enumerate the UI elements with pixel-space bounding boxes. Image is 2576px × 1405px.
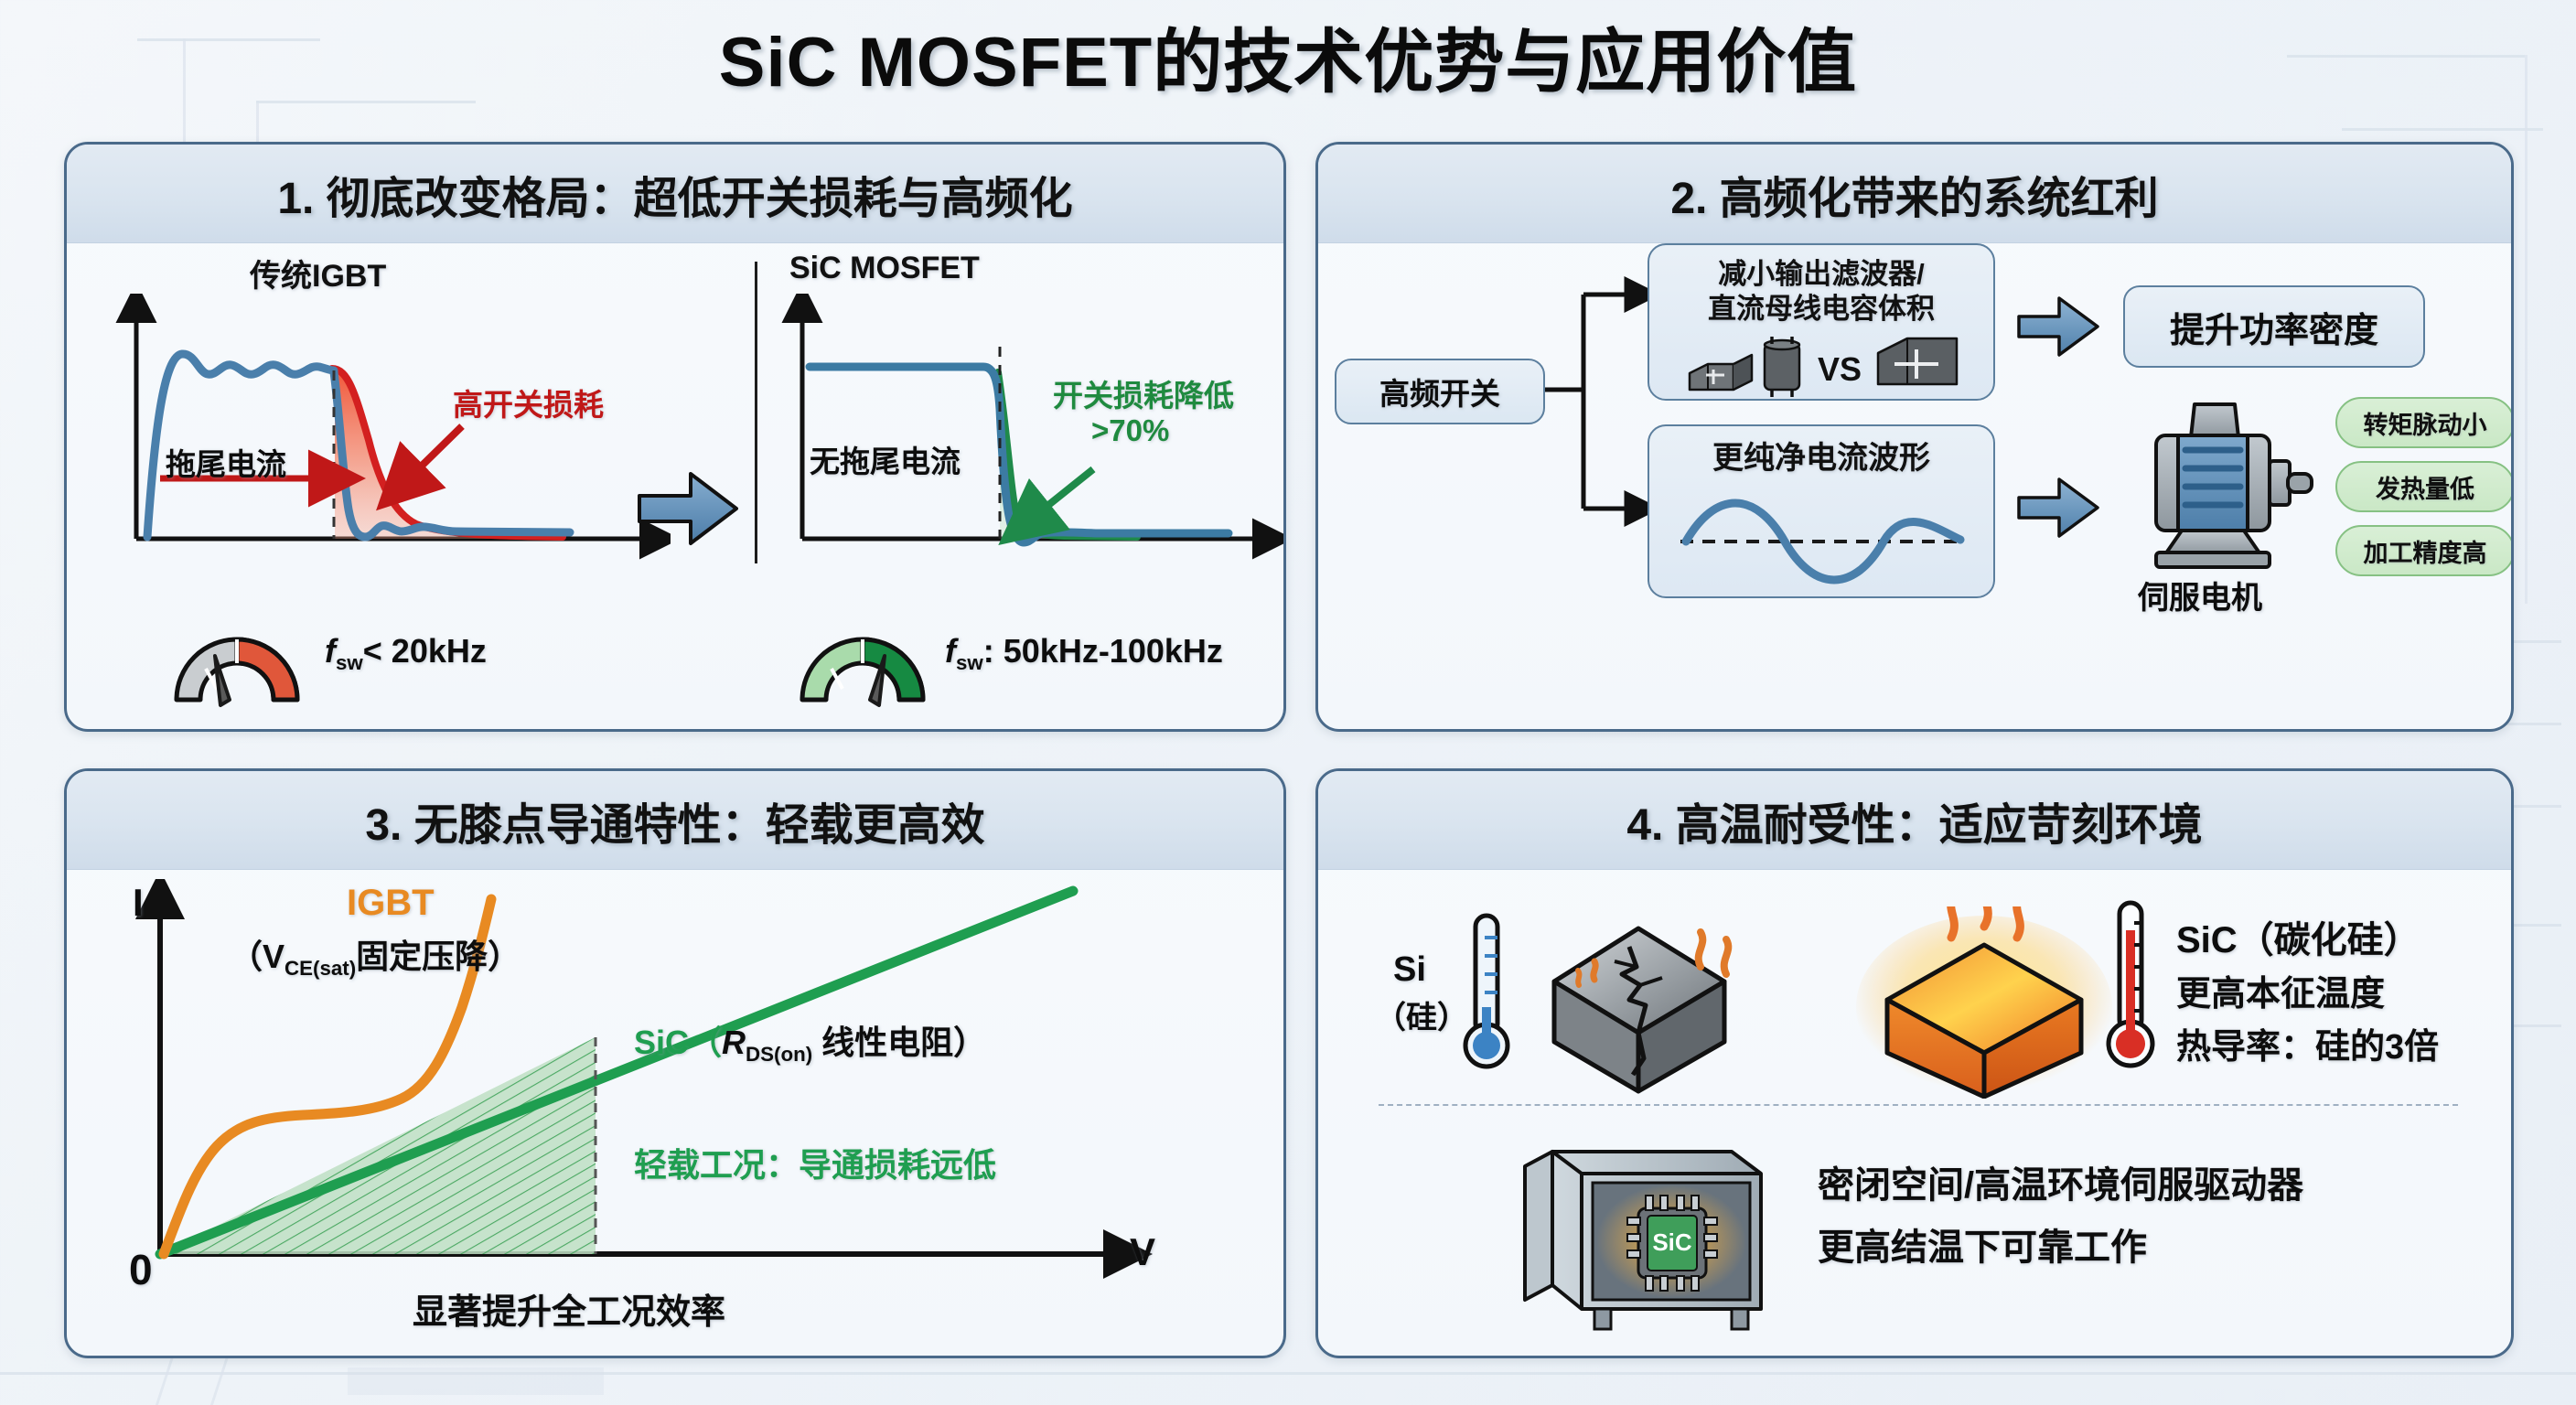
sic-frequency-gauge-icon [789,605,936,710]
sic-chart-label: SiC MOSFET [789,251,980,286]
vce-pre: （V [230,938,284,975]
benefit-pill-low-heat: 发热量低 [2335,461,2514,512]
sine-waveform-icon [1675,494,1971,589]
improve-power-density-box[interactable]: 提升功率密度 [2123,285,2425,368]
panel3-caption: 显著提升全工况效率 [413,1283,725,1334]
cleaner-current-waveform-box: 更纯净电流波形 [1648,424,1995,598]
iv-x-axis-label: V [1130,1230,1155,1274]
panel1-title: 1. 彻底改变格局：超低开关损耗与高频化 [277,162,1072,226]
cracked-silicon-cube-icon [1538,921,1748,1095]
sic-waveform-chart [771,294,1283,568]
servo-motor-icon [2116,399,2317,573]
rdson-symbol: R [722,1024,746,1061]
servo-motor-arrow-icon [2015,472,2103,543]
svg-text:VS: VS [1818,350,1862,388]
panel-high-temperature: 4. 高温耐受性：适应苛刻环境 Si （硅） [1315,768,2514,1358]
sic-thermal-conductivity-text: 热导率：硅的3倍 [2176,1018,2439,1068]
chip-sic-text: SiC [1652,1228,1692,1256]
rdson-subscript: DS(on) [746,1043,812,1066]
panel4-header: 4. 高温耐受性：适应苛刻环境 [1318,771,2511,870]
filter-box-title-line1: 减小输出滤波器/ [1649,258,1993,291]
sic-intrinsic-temp-text: 更高本征温度 [2176,965,2385,1015]
power-density-arrow-icon [2015,291,2103,362]
sic-frequency-value: : 50kHz-100kHz [983,632,1223,670]
panel1-body: 传统IGBT SiC MOSFET [67,243,1283,729]
panel1-header: 1. 彻底改变格局：超低开关损耗与高频化 [67,145,1283,243]
fsw-subscript-sic: sw [956,651,983,674]
panel-switching-loss: 1. 彻底改变格局：超低开关损耗与高频化 传统IGBT SiC MOSFET [64,142,1286,732]
tail-current-note: 拖尾电流 [166,440,286,484]
vce-post: 固定压降） [356,938,521,975]
filter-box-title-line2: 直流母线电容体积 [1649,293,1993,326]
fsw-subscript-igbt: sw [336,651,363,674]
panel3-body: I V 0 IGBT （VCE(sat)固定压降） SiC（RDS(on) 线性… [67,870,1283,1356]
sic-thermometer-icon [2101,899,2160,1073]
sic-label-post: 线性电阻） [812,1024,986,1061]
panel1-divider [755,262,757,563]
panel-conduction-characteristics: 3. 无膝点导通特性：轻载更高效 [64,768,1286,1358]
panel2-title: 2. 高频化带来的系统红利 [1670,162,2158,226]
enclosure-application-line2: 更高结温下可靠工作 [1818,1217,2147,1271]
switching-loss-reduction-note: 开关损耗降低 [1053,371,1234,415]
iv-y-axis-label: I [133,881,144,925]
hot-sic-cube-icon [1856,906,2112,1099]
high-switching-loss-note: 高开关损耗 [453,381,604,424]
benefit-pill-torque-ripple: 转矩脉动小 [2335,397,2514,448]
panel3-header: 3. 无膝点导通特性：轻载更高效 [67,771,1283,870]
sic-curve-label: SiC（RDS(on) 线性电阻） [634,1016,986,1067]
igbt-frequency-text: fsw< 20kHz [325,632,487,675]
enclosure-application-line1: 密闭空间/高温环境伺服驱动器 [1818,1155,2303,1208]
page-title: SiC MOSFET的技术优势与应用价值 [0,5,2576,106]
igbt-chart-label: 传统IGBT [250,251,386,295]
si-label-line1: Si [1393,950,1426,990]
panel4-title: 4. 高温耐受性：适应苛刻环境 [1626,788,2202,853]
capacitor-comparison-icon: VS [1682,333,1966,399]
panel4-body: Si （硅） [1318,870,2511,1356]
si-label-line2: （硅） [1375,992,1468,1037]
filter-capacitor-volume-box: 减小输出滤波器/ 直流母线电容体积 VS [1648,243,1995,401]
sic-label-pre: SiC（ [634,1024,722,1061]
panel2-body: 高频开关 减小输出滤波器/ 直流母线电容体积 VS [1318,243,2511,729]
panel4-separator [1379,1104,2458,1106]
benefit-pill-precision: 加工精度高 [2335,525,2514,576]
igbt-curve-label: IGBT [347,883,435,924]
fsw-symbol-igbt: f [325,632,336,670]
igbt-waveform-chart [103,294,671,568]
enclosed-cabinet-icon: SiC [1516,1130,1781,1340]
panel3-title: 3. 无膝点导通特性：轻载更高效 [365,788,984,853]
transition-arrow-icon [634,463,744,554]
sic-material-title: SiC（碳化硅） [2176,910,2420,963]
fsw-symbol-sic: f [945,632,956,670]
light-load-note: 轻载工况：导通损耗远低 [634,1139,996,1186]
no-tail-current-note: 无拖尾电流 [810,437,961,481]
panel2-header: 2. 高频化带来的系统红利 [1318,145,2511,243]
switching-loss-percent-note: >70% [1091,413,1169,448]
panel-high-frequency-benefits: 2. 高频化带来的系统红利 高频开关 减小输出滤波器/ 直流母线电容体积 [1315,142,2514,732]
vce-subscript: CE(sat) [284,957,356,980]
iv-origin-label: 0 [129,1245,153,1294]
igbt-frequency-value: < 20kHz [363,632,487,670]
servo-motor-label: 伺服电机 [2138,573,2262,617]
high-frequency-switching-node[interactable]: 高频开关 [1335,359,1545,424]
waveform-box-title: 更纯净电流波形 [1649,441,1993,477]
sic-frequency-text: fsw: 50kHz-100kHz [945,632,1223,675]
igbt-frequency-gauge-icon [164,605,310,710]
igbt-vce-sat-label: （VCE(sat)固定压降） [230,930,521,981]
